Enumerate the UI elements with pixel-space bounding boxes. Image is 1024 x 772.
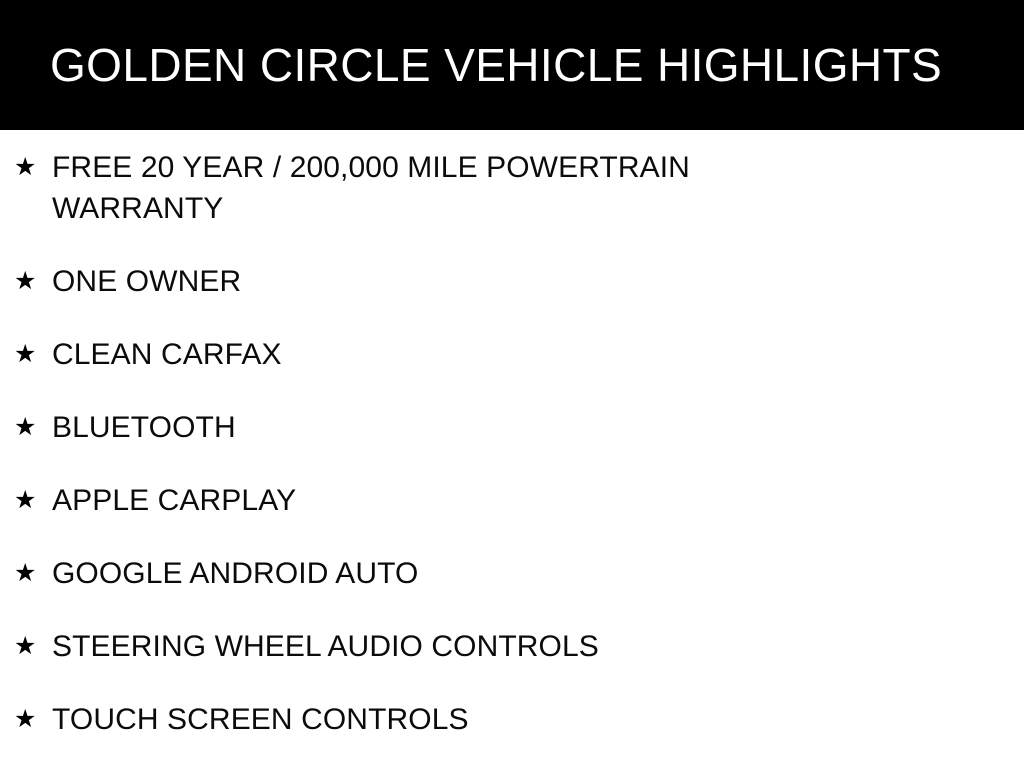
list-item-label: APPLE CARPLAY (52, 480, 827, 521)
star-icon: ★ (14, 261, 52, 302)
list-item: ★ TOUCH SCREEN CONTROLS (0, 699, 1024, 740)
star-icon: ★ (14, 480, 52, 521)
star-icon: ★ (14, 147, 52, 188)
star-icon: ★ (14, 626, 52, 667)
list-item: ★ FREE 20 YEAR / 200,000 MILE POWERTRAIN… (0, 147, 1024, 229)
list-item: ★ GOOGLE ANDROID AUTO (0, 553, 1024, 594)
page-title: GOLDEN CIRCLE VEHICLE HIGHLIGHTS (50, 41, 942, 89)
star-icon: ★ (14, 553, 52, 594)
star-icon: ★ (14, 699, 52, 740)
list-item-label: FREE 20 YEAR / 200,000 MILE POWERTRAIN W… (52, 147, 827, 229)
vehicle-highlights-list: ★ FREE 20 YEAR / 200,000 MILE POWERTRAIN… (0, 130, 1024, 772)
list-item-label: STEERING WHEEL AUDIO CONTROLS (52, 626, 827, 667)
list-item: ★ STEERING WHEEL AUDIO CONTROLS (0, 626, 1024, 667)
list-item-label: ONE OWNER (52, 261, 827, 302)
list-item-label: GOOGLE ANDROID AUTO (52, 553, 827, 594)
list-item-label: CLEAN CARFAX (52, 334, 827, 375)
list-item: ★ APPLE CARPLAY (0, 480, 1024, 521)
header-banner: GOLDEN CIRCLE VEHICLE HIGHLIGHTS (0, 0, 1024, 130)
star-icon: ★ (14, 334, 52, 375)
list-item-label: BLUETOOTH (52, 407, 827, 448)
list-item: ★ CLEAN CARFAX (0, 334, 1024, 375)
vehicle-highlights-slide: GOLDEN CIRCLE VEHICLE HIGHLIGHTS ★ FREE … (0, 0, 1024, 768)
star-icon: ★ (14, 407, 52, 448)
list-item: ★ BLUETOOTH (0, 407, 1024, 448)
list-item: ★ ONE OWNER (0, 261, 1024, 302)
list-item-label: TOUCH SCREEN CONTROLS (52, 699, 827, 740)
